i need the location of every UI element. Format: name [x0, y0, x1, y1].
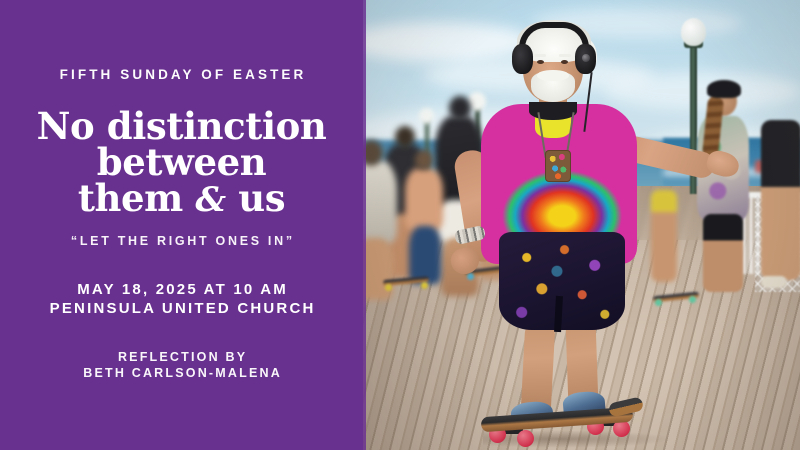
headphone-logo-dot: [582, 54, 590, 62]
headline-line-3-before: them: [78, 176, 196, 220]
headline-line-2: between: [37, 144, 327, 180]
photo-left-edge-strip: [363, 0, 366, 450]
sermon-series-subtitle: “LET THE RIGHT ONES IN”: [68, 235, 295, 248]
headline-line-1: No distinction: [37, 108, 327, 144]
credit-speaker-name: BETH CARLSON-MALENA: [81, 365, 282, 382]
hero-photo: [363, 0, 800, 450]
left-purple-panel: FIFTH SUNDAY OF EASTER No distinction be…: [0, 0, 363, 450]
skateboard-wheel: [517, 430, 534, 447]
reflection-credit: REFLECTION BY BETH CARLSON-MALENA: [81, 349, 282, 382]
headphone-earcup-left: [512, 44, 533, 74]
eye-right: [561, 60, 568, 64]
event-poster: FIFTH SUNDAY OF EASTER No distinction be…: [0, 0, 800, 450]
crowd-person-head: [449, 96, 471, 120]
beaded-pendant: [545, 150, 571, 182]
poster-text-stack: FIFTH SUNDAY OF EASTER No distinction be…: [0, 0, 363, 450]
credit-label: REFLECTION BY: [81, 349, 282, 366]
eyebrow-liturgical-day: FIFTH SUNDAY OF EASTER: [57, 68, 307, 82]
ampersand-glyph: &: [195, 180, 225, 220]
eye-left: [537, 60, 544, 64]
page-title: No distinction between them & us: [37, 108, 327, 218]
left-leg: [521, 321, 556, 414]
service-details: MAY 18, 2025 AT 10 AM PENINSULA UNITED C…: [47, 280, 315, 318]
headline-line-3-after: us: [226, 176, 285, 220]
crowd-person-head: [395, 126, 415, 148]
service-datetime: MAY 18, 2025 AT 10 AM: [47, 280, 315, 299]
floral-board-shorts: [499, 232, 625, 330]
service-location: PENINSULA UNITED CHURCH: [47, 299, 315, 318]
skateboarding-man: [363, 0, 800, 450]
crowd-person-head: [415, 150, 433, 170]
shirt-collar: [529, 102, 577, 120]
headline-line-3: them & us: [37, 180, 327, 217]
white-mustache: [537, 70, 569, 81]
eyebrow-right: [559, 54, 571, 57]
outstretched-right-hand: [704, 148, 741, 180]
eyebrow-left: [534, 54, 546, 57]
